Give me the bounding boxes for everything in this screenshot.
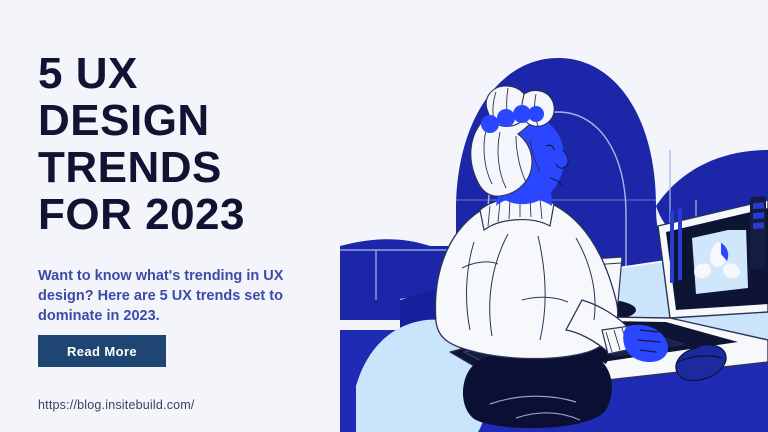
headline-line-1: 5 UX xyxy=(38,50,350,97)
read-more-button[interactable]: Read More xyxy=(38,335,166,367)
subtitle-text: Want to know what's trending in UX desig… xyxy=(38,266,318,326)
headline-line-2: DESIGN xyxy=(38,97,350,144)
text-column: 5 UX DESIGN TRENDS FOR 2023 xyxy=(38,50,350,238)
headline-line-3: TRENDS xyxy=(38,144,350,191)
headline-line-4: FOR 2023 xyxy=(38,191,350,238)
blog-banner: 5 UX DESIGN TRENDS FOR 2023 Want to know… xyxy=(0,0,768,432)
site-url-label: https://blog.insitebuild.com/ xyxy=(38,398,195,412)
laptop-screen-design-app xyxy=(692,226,748,294)
laptop-tool-panel xyxy=(750,196,766,269)
woman-at-desk-illustration xyxy=(340,0,768,432)
page-title: 5 UX DESIGN TRENDS FOR 2023 xyxy=(38,50,350,238)
